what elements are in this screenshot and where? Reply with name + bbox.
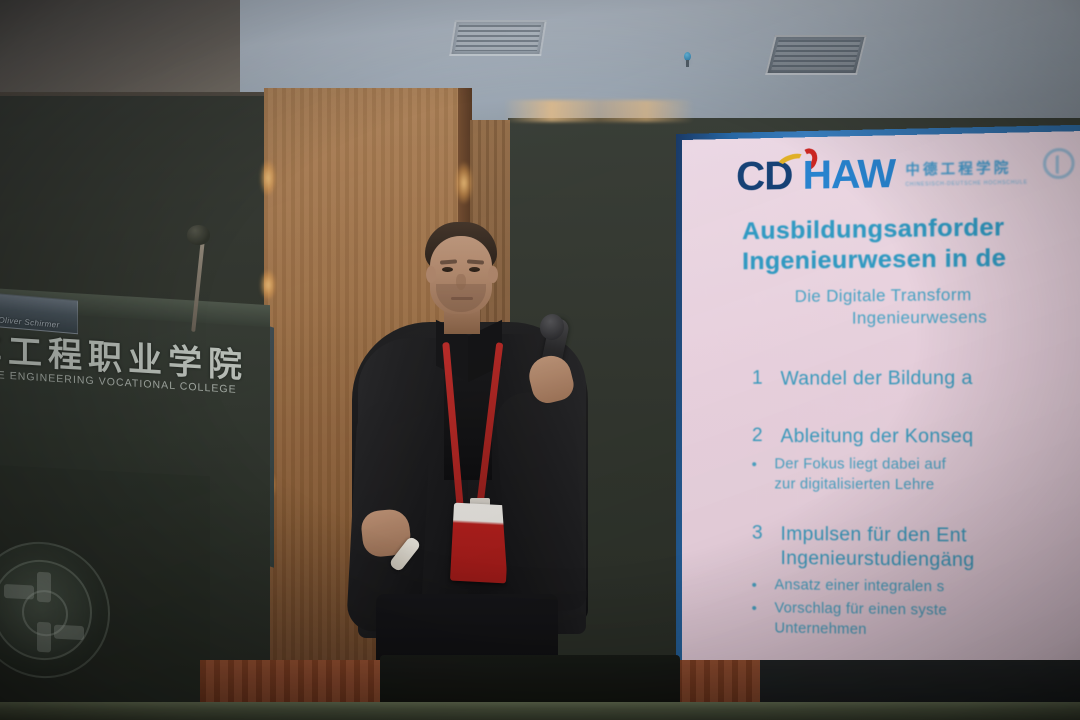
hvac-vent-icon [765,35,867,75]
nose [456,274,466,290]
accent-light [455,162,473,204]
slide-title: Ausbildungsanforder Ingenieurwesen in de [742,210,1080,277]
bullet-line2: Unternehmen [774,619,947,643]
agenda-number: 2 [734,425,780,447]
slide-subtitle-line1: Die Digitale Transform [795,286,972,306]
slide-subtitle: Die Digitale Transform Ingenieurwesens [795,282,1080,331]
accent-light [260,270,276,300]
stage-edge [0,702,1080,720]
speaker [352,222,602,720]
agenda-text-line1: Ableitung der Konseq [781,426,974,447]
presentation-slide: CD HAW 中德工程学院 CHINESISCH-DEUTSCHE HOCHSC… [682,131,1080,720]
hvac-vent-icon [449,20,547,56]
ear-left [426,266,436,283]
slide-title-line2: Ingenieurwesen in de [742,244,1006,275]
agenda-item: 3 Impulsen für den Ent Ingenieurstudieng… [734,522,1080,576]
agenda-sub-bullets: • Der Fokus liegt dabei auf zur digitali… [734,454,1080,498]
eye-left [442,267,453,272]
agenda-item: 1 Wandel der Bildung a [734,366,1080,392]
agenda-number: 1 [734,368,780,390]
agenda-sub-bullets: • Ansatz einer integralen s • Vorschlag … [734,575,1080,646]
bullet-glyph: • [734,454,774,476]
slide-title-line1: Ausbildungsanforder [742,214,1004,245]
agenda-text: Wandel der Bildung a [781,367,973,392]
agenda-text: Ableitung der Konseq [781,425,974,450]
bullet-text: Vorschlag für einen syste Unternehmen [774,598,947,642]
logo-haw-text: HAW [803,154,895,196]
bullet-line1: Der Fokus liegt dabei auf [774,456,946,473]
cdhaw-logo: CD HAW 中德工程学院 CHINESISCH-DEUTSCHE HOCHSC… [736,151,1028,197]
projection-screen: CD HAW 中德工程学院 CHINESISCH-DEUTSCHE HOCHSC… [682,131,1080,720]
presentation-photo: Oliver Schirmer 汽车工程职业学院 AUTOMOTIVE ENGI… [0,0,1080,720]
eye-right [469,267,480,272]
partner-logo-icon [1043,148,1075,180]
bullet-text: Der Fokus liegt dabei auf zur digitalisi… [774,454,946,496]
stage-backdrop-center [380,655,680,707]
agenda-text: Impulsen für den Ent Ingenieurstudiengän… [781,523,975,574]
speaker-right-arm [494,390,587,615]
bullet-row: • Der Fokus liegt dabei auf zur digitali… [734,454,1080,498]
logo-chinese-subtext: CHINESISCH-DEUTSCHE HOCHSCHULE [905,180,1027,188]
agenda-item: 2 Ableitung der Konseq [734,425,1080,450]
logo-chinese-text: 中德工程学院 [905,157,1027,180]
slide-agenda-list: 1 Wandel der Bildung a 2 Ableitung der K… [734,366,1080,647]
conference-badge [450,503,510,584]
bullet-text: Ansatz einer integralen s [774,575,944,598]
bullet-row: • Vorschlag für einen syste Unternehmen [734,597,1080,645]
bullet-line2: zur digitalisierten Lehre [774,475,946,497]
bullet-glyph: • [734,575,774,597]
agenda-text-line1: Impulsen für den Ent [781,524,967,547]
agenda-number: 3 [734,522,780,545]
sprinkler-head-icon [684,52,691,61]
bullet-line1: Ansatz einer integralen s [774,577,944,595]
slide-subtitle-line2: Ingenieurwesens [852,305,1080,331]
cove-light [504,100,694,122]
agenda-text-line1: Wandel der Bildung a [781,368,973,390]
mouth [451,297,473,300]
pinwheel-motif-icon [4,570,84,654]
logo-chinese-block: 中德工程学院 CHINESISCH-DEUTSCHE HOCHSCHULE [905,157,1027,188]
bullet-glyph: • [734,597,774,619]
gooseneck-mic-icon [187,225,210,245]
bullet-line1: Vorschlag für einen syste [774,600,947,619]
accent-light [260,160,276,196]
agenda-text-line2: Ingenieurstudiengäng [781,547,975,574]
ear-right [488,266,498,283]
